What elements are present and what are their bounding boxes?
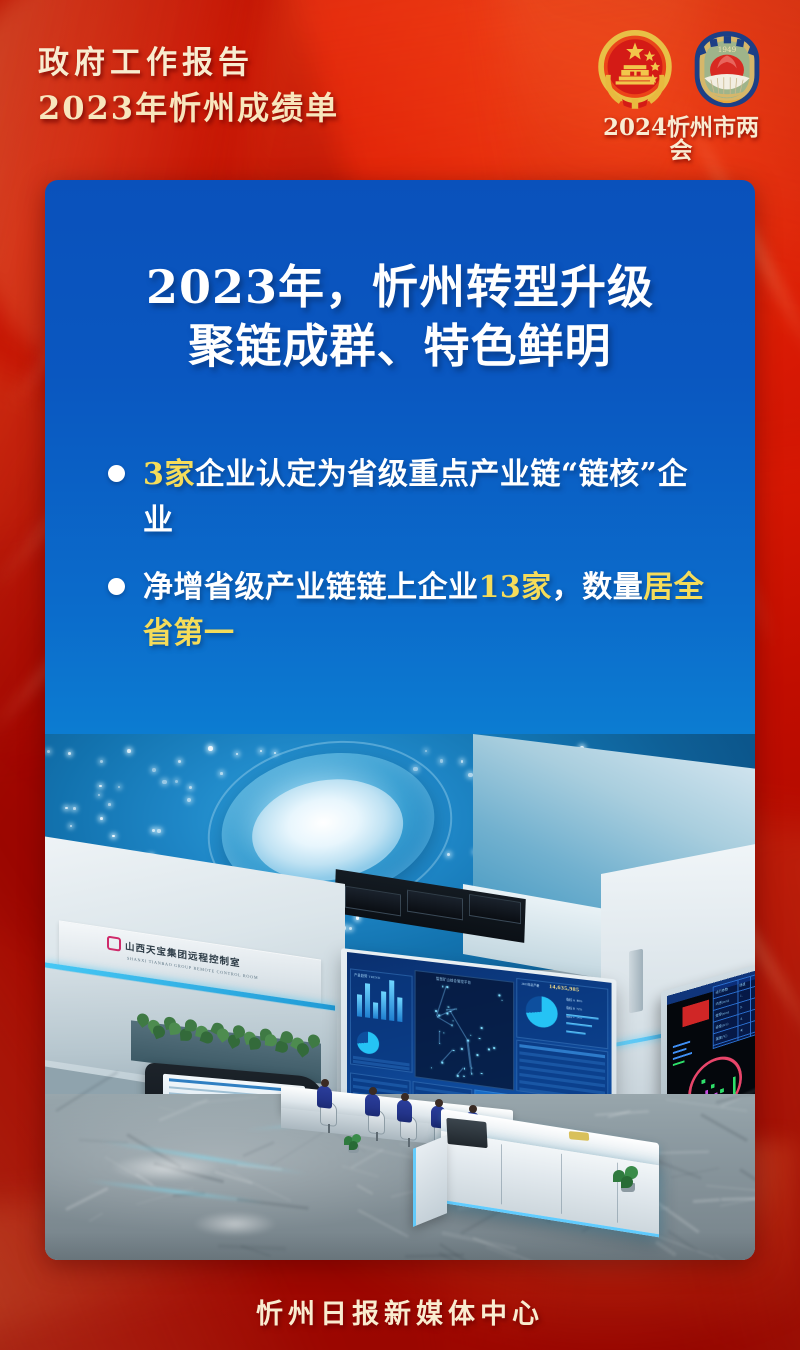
plant xyxy=(341,1132,365,1152)
poster-header: 政府工作报告 2023年忻州成绩单 xyxy=(0,0,800,180)
right-wall-column xyxy=(629,949,643,1014)
footer-text: 忻州日报新媒体中心 xyxy=(256,1292,544,1331)
emblem-group: 1949 2024忻州市两会 xyxy=(592,28,770,148)
plant xyxy=(611,1164,645,1192)
list-item: 3家企业认定为省级重点产业链“链核”企业 xyxy=(101,452,707,543)
bullet-plain: ，数量 xyxy=(552,570,644,605)
bullet-plain: 净增省级产业链链上企业 xyxy=(143,570,479,605)
content-card: 2023年，忻州转型升级 聚链成群、特色鲜明 3家企业认定为省级重点产业链“链核… xyxy=(45,180,755,1260)
screen-headline: 14,635,985 xyxy=(549,984,579,994)
bullet-text: 净增省级产业链链上企业13家，数量居全省第一 xyxy=(143,565,707,656)
bullet-list: 3家企业认定为省级重点产业链“链核”企业 净增省级产业链链上企业13家，数量居全… xyxy=(101,452,707,678)
dashboard-panel-donut: 14,635,985 2023年总产量 指标 A 86% 指标 B 72% 指标… xyxy=(516,978,608,1049)
meeting-label: 2024忻州市两会 xyxy=(592,116,770,162)
card-title-line1: 2023年，忻州转型升级 xyxy=(45,258,755,317)
card-title: 2023年，忻州转型升级 聚链成群、特色鲜明 xyxy=(45,258,755,376)
bullet-highlight: 3家 xyxy=(143,457,195,492)
bullet-dot-icon xyxy=(108,578,125,595)
laptop xyxy=(446,1118,487,1148)
bullet-plain: 企业认定为省级重点产业链“链核”企业 xyxy=(143,457,688,538)
hmi-data-table: 运行参数 现值 内径(mm)1. 壁厚(mm)9. 速度(m/s)4. 温度(℃… xyxy=(713,974,755,1049)
national-emblem-icon xyxy=(594,28,676,112)
list-item: 净增省级产业链链上企业13家，数量居全省第一 xyxy=(101,565,707,656)
bullet-dot-icon xyxy=(108,465,125,482)
company-logo-icon xyxy=(107,936,121,952)
front-console-side xyxy=(413,1135,447,1227)
poster-footer: 忻州日报新媒体中心 xyxy=(0,1272,800,1350)
photo-bottom-fade xyxy=(45,1232,755,1260)
hmi-red-block xyxy=(683,1000,710,1028)
bullet-highlight: 13家 xyxy=(479,570,552,605)
bullet-text: 3家企业认定为省级重点产业链“链核”企业 xyxy=(143,452,707,543)
dashboard-panel-bars: 产量趋势 TREND xyxy=(350,968,413,1073)
card-title-line2: 聚链成群、特色鲜明 xyxy=(45,317,755,376)
control-room-photo: 山西天宝集团远程控制室 SHANXI TIANBAO GROUP REMOTE … xyxy=(45,734,755,1260)
dashboard-panel-network: 智慧矿山综合管控平台 xyxy=(415,970,515,1091)
poster-root: 政府工作报告 2023年忻州成绩单 xyxy=(0,0,800,1350)
header-title-line2: 2023年忻州成绩单 xyxy=(38,92,339,124)
cppcc-emblem-icon: 1949 xyxy=(686,28,768,112)
svg-text:1949: 1949 xyxy=(718,45,737,54)
screen-headline-label: 2023年总产量 xyxy=(522,982,540,988)
desk-pad xyxy=(569,1131,590,1141)
header-title-block: 政府工作报告 2023年忻州成绩单 xyxy=(38,48,339,124)
header-title-line1: 政府工作报告 xyxy=(38,48,339,79)
